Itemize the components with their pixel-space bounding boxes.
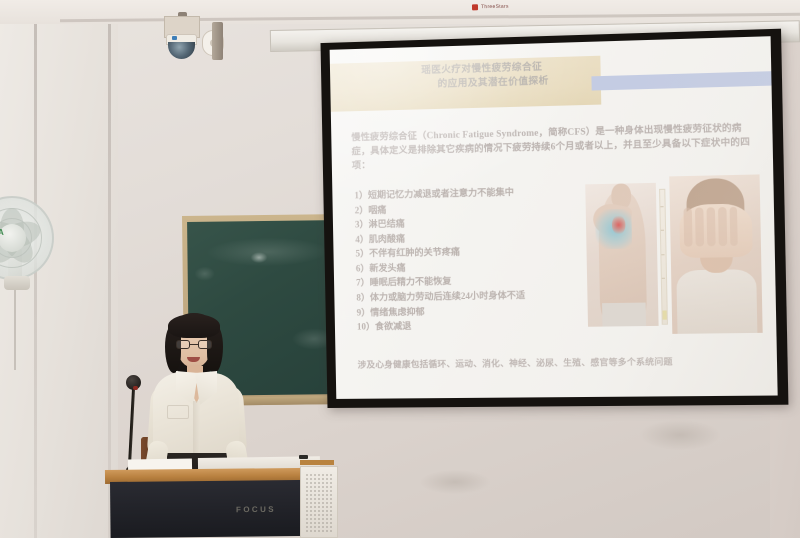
- wall-stain: [640, 420, 720, 450]
- wall-seam-right: [108, 0, 111, 538]
- podium-brand-label: FOCUS: [236, 505, 276, 514]
- speaker-grille: [305, 473, 332, 533]
- chalk-smudge: [251, 252, 268, 263]
- housing-brand-logo: ThreeStars: [472, 4, 509, 11]
- glasses-icon: [176, 340, 212, 349]
- slide-footer-text: 涉及心身健康包括循环、运动、消化、神经、泌尿、生殖、感官等多个系统问题: [358, 354, 763, 370]
- slide-decorative-ruler: [659, 189, 669, 325]
- ruler-tick: [661, 206, 665, 207]
- brand-mark-icon: [472, 4, 478, 10]
- speaker-connector: [299, 455, 308, 459]
- glasses-lens-right: [198, 340, 212, 349]
- presenter-pocket: [167, 405, 189, 419]
- glasses-lens-left: [176, 340, 190, 349]
- presenter-placket: [193, 401, 200, 459]
- fan-neck: [4, 276, 30, 290]
- fan-power-cord: [14, 290, 16, 370]
- speaker-top-trim: [300, 460, 334, 465]
- photo-finger: [718, 207, 727, 247]
- wall-stain: [420, 470, 490, 494]
- podium-body: [110, 480, 309, 538]
- slide-accent-bar: [592, 71, 772, 90]
- chalk-smudge: [194, 267, 214, 281]
- photo-finger: [730, 207, 739, 247]
- camera-led-icon: [172, 36, 177, 40]
- back-shoulder-pain-photo: [585, 183, 659, 327]
- photo-hands: [679, 203, 752, 258]
- presentation-slide: 瑶医火疗对慢性疲劳综合征 的应用及其潜在价值探析 慢性疲劳综合征（Chronic…: [330, 36, 778, 399]
- projection-screen: 瑶医火疗对慢性疲劳综合征 的应用及其潜在价值探析 慢性疲劳综合征（Chronic…: [321, 29, 789, 408]
- photo-shorts: [602, 303, 647, 326]
- screen-bracket-left: [212, 22, 223, 60]
- photo-finger: [695, 207, 704, 247]
- chalk-smudge: [207, 238, 328, 267]
- photo-shirt: [677, 269, 758, 333]
- ruler-tick: [661, 230, 665, 231]
- projection-screen-surface: 瑶医火疗对慢性疲劳综合征 的应用及其潜在价值探析 慢性疲劳综合征（Chronic…: [330, 36, 778, 399]
- ruler-cap: [662, 310, 666, 319]
- brand-name: ThreeStars: [481, 4, 509, 11]
- ruler-tick: [661, 254, 665, 255]
- fan-brand-mark: A: [0, 228, 4, 237]
- lecture-hall-scene: A ThreeStars 瑶医火疗对慢性疲劳综合征 的应用及其潜在价值探析: [0, 0, 800, 538]
- glasses-bridge: [190, 344, 198, 345]
- microphone-indicator: [133, 386, 138, 390]
- list-item: 10）食欲减退: [357, 316, 620, 334]
- slide-symptom-list: 1）短期记忆力减退或者注意力不能集中 2）咽痛 3）淋巴结痛 4）肌肉酸痛 5）…: [354, 183, 619, 335]
- wall-speaker-panel: [300, 466, 338, 538]
- headache-person-photo: [670, 174, 763, 333]
- presenter-fringe: [168, 314, 220, 338]
- ruler-tick: [662, 278, 666, 279]
- photo-finger: [683, 207, 692, 247]
- photo-finger: [706, 207, 715, 247]
- slide-body-paragraph: 慢性疲劳综合征（Chronic Fatigue Syndrome，简称CFS）是…: [351, 121, 756, 173]
